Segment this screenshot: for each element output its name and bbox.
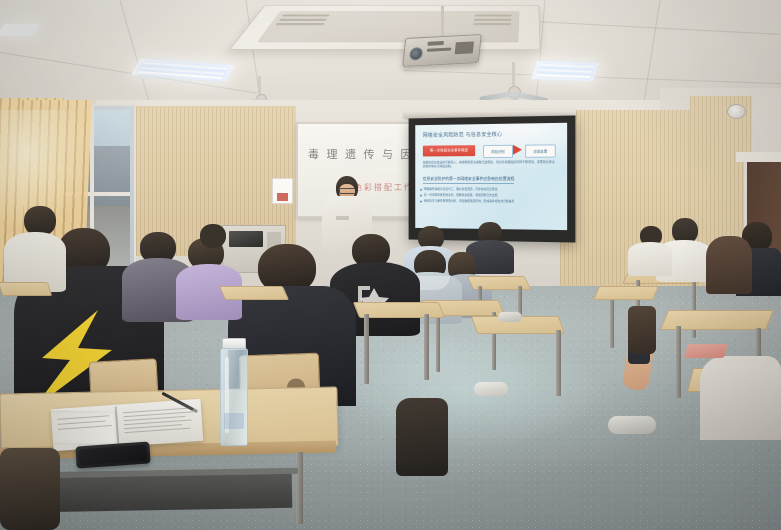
student-long-hair-right (706, 236, 752, 294)
air-conditioner-unit (229, 5, 541, 50)
classroom-photo: 毒 理 遗 传 与 因 阳 厦 色彩搭配工作室 网络安全风险防范 与信息安全核心… (0, 0, 781, 530)
bottle-label (224, 413, 244, 429)
bag-floor-foreground (0, 448, 60, 530)
phone-screen (79, 445, 148, 466)
poster-red-mark (277, 193, 288, 201)
slide-bullet-1: 明确事件等级与责任分工，确认处置范围，同步启动应急预案 (424, 187, 498, 191)
shoe-center-1 (474, 382, 508, 396)
slide-step-3-label: 应急处置 (533, 148, 547, 153)
slide-step-box-2: 风险识别 (483, 145, 513, 158)
door-header (736, 152, 781, 162)
presentation-slide: 网络安全风险防范 与信息安全核心 第一次信息安全事件概述 风险识别 应急处置 随… (415, 123, 567, 230)
student-right-front-gray-body (700, 356, 781, 440)
glasses-icon (339, 188, 357, 194)
slide-step-box-3: 应急处置 (525, 144, 556, 157)
student-far-left-head (200, 224, 226, 248)
desk-left-mid (219, 286, 289, 300)
slide-highlight-label: 第一次信息安全事件概述 (430, 148, 468, 153)
slide-subheading: 信息安全防护的第一次网络安全事件应急响应处置流程 (423, 176, 515, 184)
desk-center-far (593, 286, 659, 300)
projector-lens (409, 47, 423, 61)
slide-paragraph: 随着信息化建设的不断深入，各类网络安全威胁日益突出，信息系统面临的风险不断增加，… (423, 160, 556, 169)
water-bottle[interactable] (220, 348, 248, 446)
slide-highlight-box: 第一次信息安全事件概述 (423, 145, 475, 156)
shoe-center-2 (498, 312, 522, 322)
notebook-right[interactable] (684, 344, 729, 358)
wall-poster (272, 178, 293, 204)
ceiling-fan-right (492, 84, 534, 100)
projector-mount (441, 6, 444, 38)
slide-step-2-label: 风险识别 (491, 149, 505, 154)
slide-arrow-icon (513, 145, 522, 155)
shoe-right-1 (608, 416, 656, 434)
slide-bullet-3: 组织技术力量开展溯源分析，评估数据泄露影响，形成事件报告并归档备查 (424, 199, 514, 204)
ceiling-fan-right-rod (512, 62, 515, 86)
slide-title: 网络安全风险防范 与信息安全核心 (423, 131, 502, 139)
shirt-logo (336, 216, 349, 220)
backpack-floor-left (396, 398, 448, 476)
desk-left-back (0, 282, 52, 296)
fluorescent-light-panel-right (531, 61, 598, 81)
backpack-right (628, 306, 656, 354)
desk-under-shelf (40, 474, 293, 512)
podium-monitor (229, 231, 263, 247)
slide-bullet-2: 第一时间隔离受影响主机，阻断攻击链路，保留完整日志证据 (424, 193, 498, 197)
smoke-detector-icon (727, 104, 746, 119)
projector (402, 34, 482, 67)
student-back-right-body (628, 242, 672, 276)
floor-light-reflection (330, 330, 610, 450)
